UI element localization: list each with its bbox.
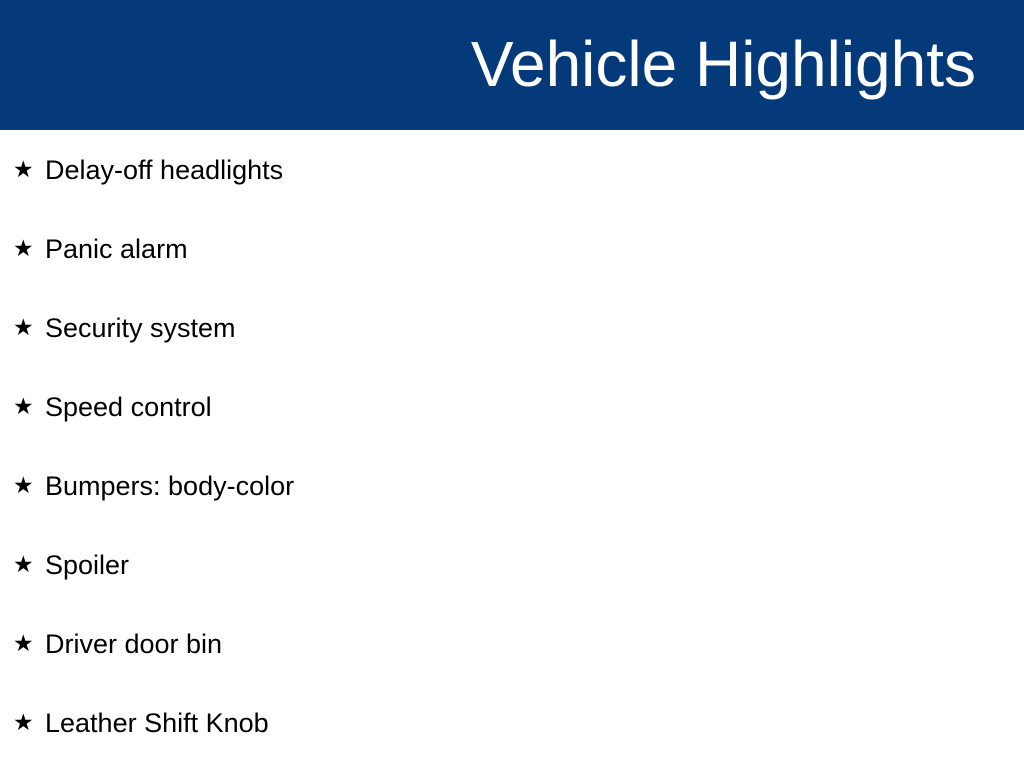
star-bullet-icon: ★: [13, 393, 35, 421]
list-item: ★ Security system: [0, 288, 1024, 367]
page-title: Vehicle Highlights: [471, 32, 976, 96]
star-bullet-icon: ★: [13, 314, 35, 342]
list-item: ★ Speed control: [0, 367, 1024, 446]
star-bullet-icon: ★: [13, 472, 35, 500]
star-bullet-icon: ★: [13, 551, 35, 579]
list-item: ★ Leather Shift Knob: [0, 683, 1024, 762]
list-item: ★ Driver door bin: [0, 604, 1024, 683]
list-item-label: Delay-off headlights: [45, 154, 283, 186]
list-item: ★ Panic alarm: [0, 209, 1024, 288]
vehicle-highlights-list: ★ Delay-off headlights ★ Panic alarm ★ S…: [0, 130, 1024, 762]
list-item-label: Speed control: [45, 391, 212, 423]
list-item-label: Panic alarm: [45, 233, 188, 265]
list-item: ★ Spoiler: [0, 525, 1024, 604]
list-item-label: Leather Shift Knob: [45, 707, 269, 739]
star-bullet-icon: ★: [13, 630, 35, 658]
title-band: Vehicle Highlights: [0, 0, 1024, 130]
list-item-label: Bumpers: body-color: [45, 470, 294, 502]
list-item: ★ Delay-off headlights: [0, 130, 1024, 209]
star-bullet-icon: ★: [13, 156, 35, 184]
list-item-label: Spoiler: [45, 549, 129, 581]
star-bullet-icon: ★: [13, 235, 35, 263]
slide: Vehicle Highlights ★ Delay-off headlight…: [0, 0, 1024, 768]
list-item-label: Security system: [45, 312, 236, 344]
list-item-label: Driver door bin: [45, 628, 222, 660]
list-item: ★ Bumpers: body-color: [0, 446, 1024, 525]
star-bullet-icon: ★: [13, 709, 35, 737]
